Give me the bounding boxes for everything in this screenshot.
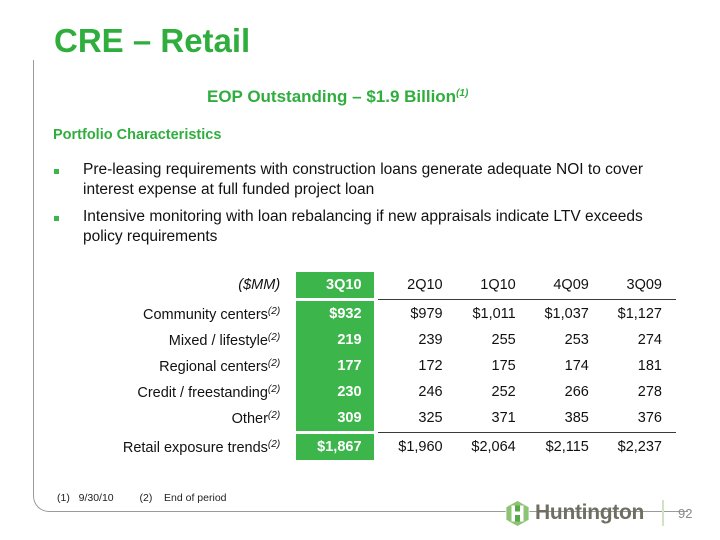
cell-retail-exposure-trends-1q10: $2,064 <box>457 434 530 460</box>
retail-exposure-table: ($MM) 3Q10 2Q10 1Q10 4Q09 3Q09 Community… <box>60 272 676 460</box>
cell-regional-centers-3q09: 181 <box>603 353 676 379</box>
table-row: Community centers(2) $932 $979 $1,011 $1… <box>60 301 676 327</box>
row-label-other: Other(2) <box>60 405 296 431</box>
page-title: CRE – Retail <box>54 22 250 60</box>
list-item: Pre-leasing requirements with constructi… <box>54 160 679 200</box>
column-header-1q10: 1Q10 <box>457 272 530 298</box>
cell-mixed-lifestyle-3q09: 274 <box>603 327 676 353</box>
row-label-retail-exposure-trends: Retail exposure trends(2) <box>60 434 296 460</box>
bullet-square-icon <box>54 216 59 221</box>
cell-community-centers-2q10: $979 <box>374 301 457 327</box>
cell-other-2q10: 325 <box>374 405 457 431</box>
table-unit-label: ($MM) <box>60 272 296 298</box>
column-header-3q09: 3Q09 <box>603 272 676 298</box>
cell-retail-exposure-trends-2q10: $1,960 <box>374 434 457 460</box>
cell-credit-freestanding-1q10: 252 <box>457 379 530 405</box>
column-header-3q10: 3Q10 <box>296 272 373 298</box>
row-label-community-centers: Community centers(2) <box>60 301 296 327</box>
cell-credit-freestanding-4q09: 266 <box>530 379 603 405</box>
brand-wordmark: Huntington <box>535 501 644 525</box>
cell-mixed-lifestyle-1q10: 255 <box>457 327 530 353</box>
cell-other-4q09: 385 <box>530 405 603 431</box>
row-label-mixed-lifestyle: Mixed / lifestyle(2) <box>60 327 296 353</box>
cell-community-centers-3q09: $1,127 <box>603 301 676 327</box>
table-header-row: ($MM) 3Q10 2Q10 1Q10 4Q09 3Q09 <box>60 272 676 298</box>
list-item: Intensive monitoring with loan rebalanci… <box>54 207 679 247</box>
slide-subtitle: EOP Outstanding – $1.9 Billion(1) <box>207 87 468 107</box>
cell-mixed-lifestyle-2q10: 239 <box>374 327 457 353</box>
cell-regional-centers-1q10: 175 <box>457 353 530 379</box>
cell-other-3q09: 376 <box>603 405 676 431</box>
column-header-2q10: 2Q10 <box>374 272 457 298</box>
table-row: Regional centers(2) 177 172 175 174 181 <box>60 353 676 379</box>
row-label-credit-freestanding: Credit / freestanding(2) <box>60 379 296 405</box>
table-row: Credit / freestanding(2) 230 246 252 266… <box>60 379 676 405</box>
cell-mixed-lifestyle-3q10: 219 <box>296 327 373 353</box>
table-total-row: Retail exposure trends(2) $1,867 $1,960 … <box>60 434 676 460</box>
cell-credit-freestanding-3q09: 278 <box>603 379 676 405</box>
footnote-1-text: 9/30/10 <box>79 492 114 504</box>
cell-retail-exposure-trends-3q10: $1,867 <box>296 434 373 460</box>
footnote-2-marker: (2) <box>140 492 153 504</box>
cell-other-3q10: 309 <box>296 405 373 431</box>
cell-community-centers-1q10: $1,011 <box>457 301 530 327</box>
bullet-list: Pre-leasing requirements with constructi… <box>54 160 679 254</box>
huntington-hexagon-logo-icon <box>505 500 530 527</box>
cell-regional-centers-2q10: 172 <box>374 353 457 379</box>
cell-other-1q10: 371 <box>457 405 530 431</box>
page-number: 92 <box>678 506 698 521</box>
cell-credit-freestanding-2q10: 246 <box>374 379 457 405</box>
table-row: Other(2) 309 325 371 385 376 <box>60 405 676 431</box>
slide-subtitle-footnote-marker: (1) <box>456 88 468 99</box>
brand-footer: Huntington 92 <box>505 496 698 530</box>
slide-subtitle-text: EOP Outstanding – $1.9 Billion <box>207 87 456 106</box>
cell-retail-exposure-trends-3q09: $2,237 <box>603 434 676 460</box>
row-label-regional-centers: Regional centers(2) <box>60 353 296 379</box>
column-header-4q09: 4Q09 <box>530 272 603 298</box>
cell-regional-centers-4q09: 174 <box>530 353 603 379</box>
bullet-text: Pre-leasing requirements with constructi… <box>83 160 679 200</box>
cell-community-centers-4q09: $1,037 <box>530 301 603 327</box>
cell-retail-exposure-trends-4q09: $2,115 <box>530 434 603 460</box>
footnote-list: (1) 9/30/10 (2) End of period <box>57 492 227 504</box>
table-row: Mixed / lifestyle(2) 219 239 255 253 274 <box>60 327 676 353</box>
bullet-square-icon <box>54 169 59 174</box>
footnote-1-marker: (1) <box>57 492 70 504</box>
bullet-text: Intensive monitoring with loan rebalanci… <box>83 207 679 247</box>
cell-regional-centers-3q10: 177 <box>296 353 373 379</box>
footnote-2-text: End of period <box>164 492 226 504</box>
section-heading: Portfolio Characteristics <box>53 127 221 143</box>
brand-divider <box>662 500 664 526</box>
cell-community-centers-3q10: $932 <box>296 301 373 327</box>
cell-credit-freestanding-3q10: 230 <box>296 379 373 405</box>
cell-mixed-lifestyle-4q09: 253 <box>530 327 603 353</box>
